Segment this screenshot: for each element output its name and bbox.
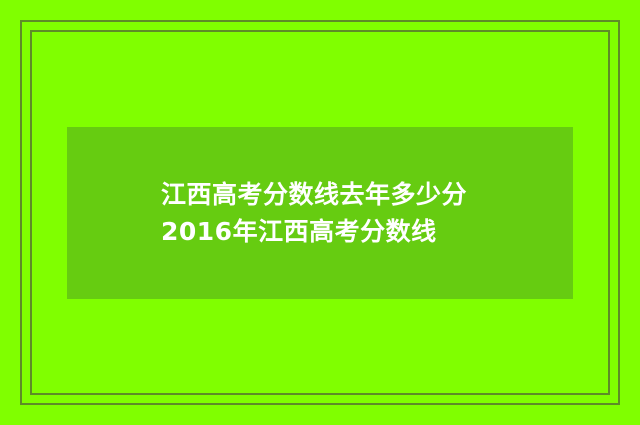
headline-band: 江西高考分数线去年多少分 2016年江西高考分数线 (67, 127, 573, 299)
headline-line-2: 2016年江西高考分数线 (161, 214, 573, 250)
banner-canvas: 江西高考分数线去年多少分 2016年江西高考分数线 (0, 0, 640, 425)
headline-line-1: 江西高考分数线去年多少分 (161, 177, 573, 213)
